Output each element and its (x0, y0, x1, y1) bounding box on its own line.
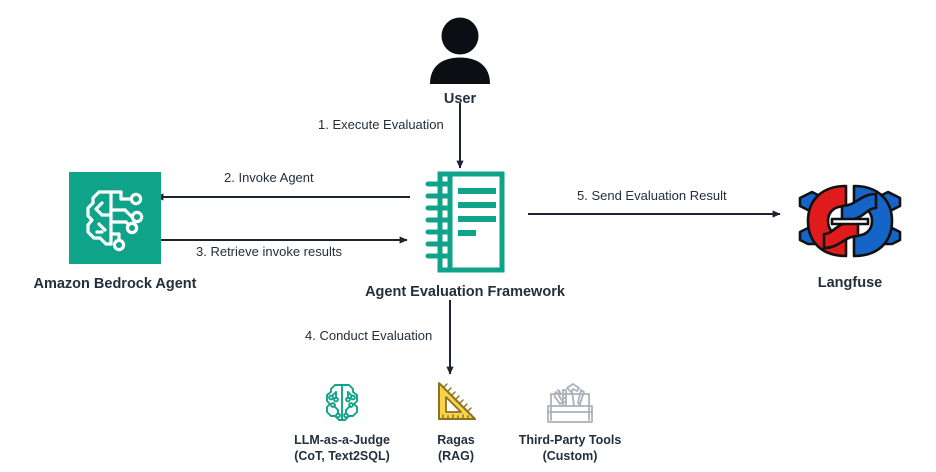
langfuse-knot-logo (794, 178, 906, 264)
node-agent-evaluation-framework: Agent Evaluation Framework (330, 170, 600, 301)
tool-ragas: Ragas (RAG) (400, 378, 512, 464)
edge-label-execute-evaluation: 1. Execute Evaluation (318, 117, 444, 132)
node-user: User (414, 16, 506, 108)
tool-label-line2: (Custom) (519, 449, 622, 465)
tool-label-line1: Ragas (437, 433, 475, 449)
edge-label-conduct-evaluation: 4. Conduct Evaluation (305, 328, 432, 343)
node-label-langfuse: Langfuse (818, 274, 882, 292)
evaluation-tools-row: LLM-as-a-Judge (CoT, Text2SQL) (286, 378, 626, 464)
tool-label-llm-as-a-judge: LLM-as-a-Judge (CoT, Text2SQL) (294, 433, 390, 464)
tool-label-ragas: Ragas (RAG) (437, 433, 475, 464)
notebook-icon (416, 170, 514, 274)
tool-third-party-tools: Third-Party Tools (Custom) (514, 378, 626, 464)
edge-label-invoke-agent: 2. Invoke Agent (224, 170, 314, 185)
tool-label-line2: (RAG) (437, 449, 475, 465)
tool-label-line1: LLM-as-a-Judge (294, 433, 390, 449)
node-label-user: User (444, 90, 476, 108)
tool-label-third-party-tools: Third-Party Tools (Custom) (519, 433, 622, 464)
user-avatar-icon (425, 16, 495, 84)
tool-label-line1: Third-Party Tools (519, 433, 622, 449)
node-label-bedrock-agent: Amazon Bedrock Agent (33, 275, 196, 293)
node-langfuse: Langfuse (780, 178, 920, 292)
brain-outline-circuit-icon (318, 378, 366, 426)
triangle-ruler-icon (432, 378, 480, 426)
tool-llm-as-a-judge: LLM-as-a-Judge (CoT, Text2SQL) (286, 378, 398, 464)
brain-circuit-icon (69, 172, 161, 264)
node-label-agent-evaluation-framework: Agent Evaluation Framework (365, 283, 565, 301)
edge-label-retrieve-invoke-results: 3. Retrieve invoke results (196, 244, 342, 259)
node-bedrock-agent: Amazon Bedrock Agent (17, 172, 213, 293)
architecture-diagram: 1. Execute Evaluation 2. Invoke Agent 3.… (0, 0, 936, 472)
toolbox-icon (543, 378, 597, 426)
tool-label-line2: (CoT, Text2SQL) (294, 449, 390, 465)
